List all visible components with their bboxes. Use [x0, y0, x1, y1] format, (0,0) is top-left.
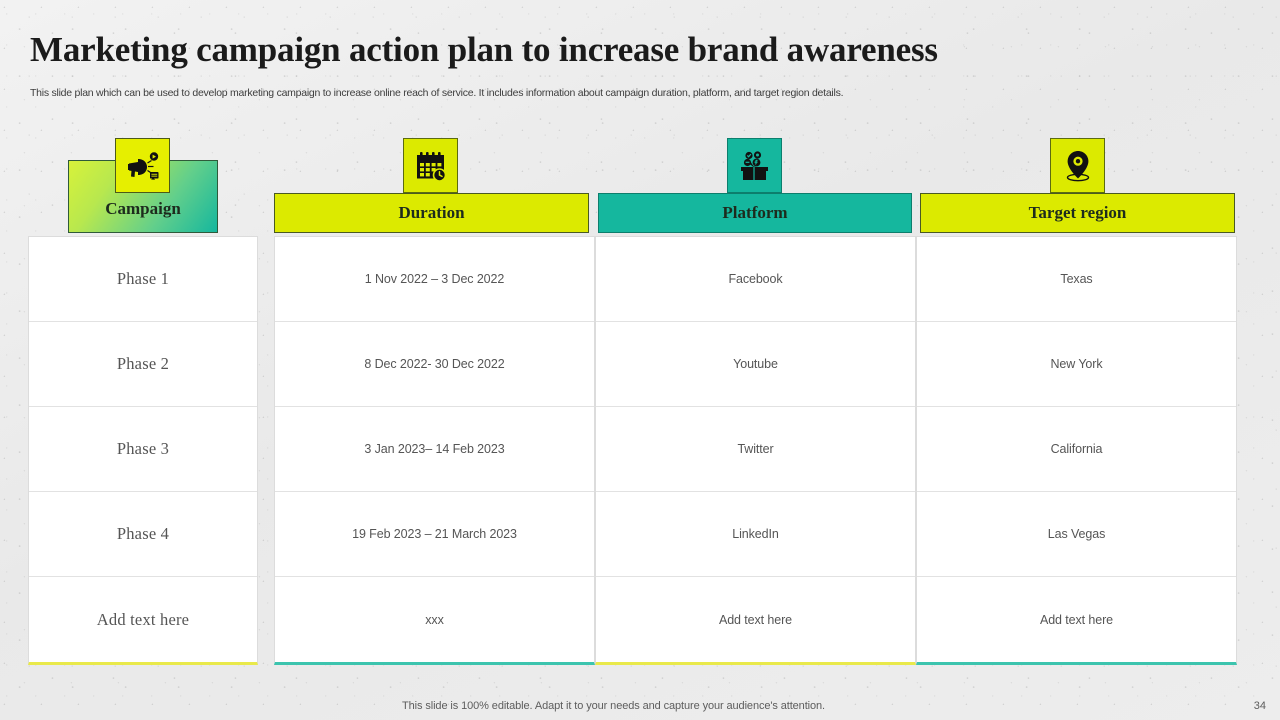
- target-region-icon-tile: [1050, 138, 1105, 193]
- page-number: 34: [1254, 700, 1266, 712]
- platform-icon-tile: [727, 138, 782, 193]
- table-cell-platform[interactable]: Twitter: [596, 407, 915, 492]
- column-campaign: Phase 1 Phase 2 Phase 3 Phase 4 Add text…: [28, 236, 258, 665]
- footer-note: This slide is 100% editable. Adapt it to…: [402, 700, 825, 712]
- table-cell-target-region[interactable]: Las Vegas: [917, 492, 1236, 577]
- table-cell-target-region[interactable]: California: [917, 407, 1236, 492]
- page-title: Marketing campaign action plan to increa…: [30, 28, 938, 72]
- page-subtitle: This slide plan which can be used to dev…: [30, 86, 843, 101]
- table-cell-platform[interactable]: LinkedIn: [596, 492, 915, 577]
- table-cell-target-region[interactable]: New York: [917, 322, 1236, 407]
- table-cell-platform[interactable]: Youtube: [596, 322, 915, 407]
- table-cell-duration[interactable]: xxx: [275, 577, 594, 662]
- duration-icon-tile: [403, 138, 458, 193]
- table-cell-campaign[interactable]: Phase 2: [29, 322, 257, 407]
- column-target-region: Texas New York California Las Vegas Add …: [916, 236, 1237, 665]
- table-cell-duration[interactable]: 8 Dec 2022- 30 Dec 2022: [275, 322, 594, 407]
- column-duration: 1 Nov 2022 – 3 Dec 2022 8 Dec 2022- 30 D…: [274, 236, 595, 665]
- table-cell-platform[interactable]: Facebook: [596, 237, 915, 322]
- table-cell-target-region[interactable]: Add text here: [917, 577, 1236, 662]
- calendar-clock-icon: [414, 150, 448, 182]
- table-cell-campaign[interactable]: Phase 4: [29, 492, 257, 577]
- table-cell-duration[interactable]: 19 Feb 2023 – 21 March 2023: [275, 492, 594, 577]
- table-cell-campaign[interactable]: Add text here: [29, 577, 257, 662]
- table-cell-campaign[interactable]: Phase 3: [29, 407, 257, 492]
- table-cell-duration[interactable]: 3 Jan 2023– 14 Feb 2023: [275, 407, 594, 492]
- location-pin-icon: [1062, 149, 1094, 183]
- megaphone-icon: [126, 151, 160, 181]
- column-header-platform[interactable]: Platform: [598, 193, 912, 233]
- table-cell-target-region[interactable]: Texas: [917, 237, 1236, 322]
- social-box-icon: [738, 150, 772, 182]
- column-header-duration[interactable]: Duration: [274, 193, 589, 233]
- column-header-target-region[interactable]: Target region: [920, 193, 1235, 233]
- campaign-icon-tile: [115, 138, 170, 193]
- table-cell-duration[interactable]: 1 Nov 2022 – 3 Dec 2022: [275, 237, 594, 322]
- table-cell-campaign[interactable]: Phase 1: [29, 237, 257, 322]
- table-cell-platform[interactable]: Add text here: [596, 577, 915, 662]
- column-platform: Facebook Youtube Twitter LinkedIn Add te…: [595, 236, 916, 665]
